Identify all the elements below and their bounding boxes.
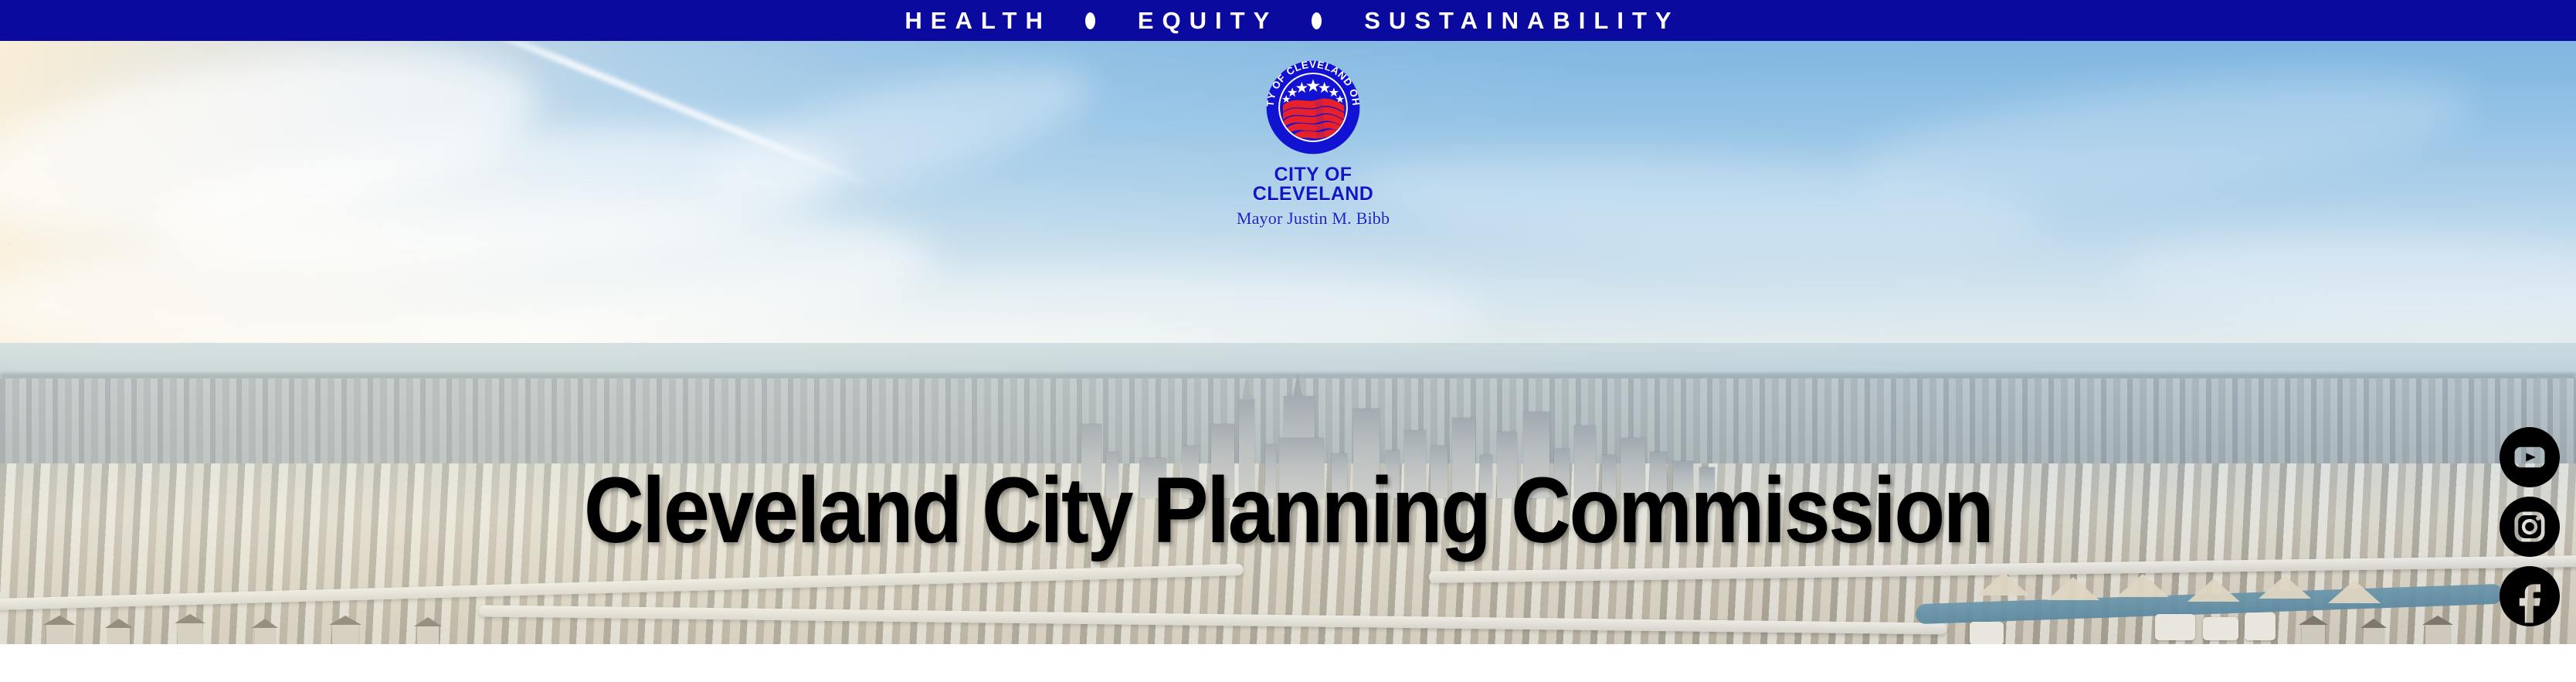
youtube-icon[interactable] — [2500, 427, 2560, 487]
tagline-bullet-icon — [1312, 12, 1322, 29]
city-seal-icon: CITY OF CLEVELAND OHIO — [1266, 60, 1360, 154]
house — [2425, 624, 2450, 644]
house — [178, 623, 202, 644]
logo-title: CITY OF CLEVELAND — [1219, 165, 1407, 204]
gravel-pile — [2116, 574, 2169, 597]
tagline: HEALTH EQUITY SUSTAINABILITY — [896, 8, 1679, 32]
house — [108, 627, 130, 644]
bottom-whitespace — [0, 644, 2576, 682]
house — [46, 624, 73, 644]
gravel-pile — [1977, 572, 2030, 595]
storage-tank — [1970, 622, 2004, 644]
storage-tank — [2203, 617, 2238, 640]
house — [255, 627, 275, 644]
gravel-pile — [2328, 580, 2381, 603]
social-links[interactable] — [2500, 427, 2560, 626]
page-root: HEALTH EQUITY SUSTAINABILITY — [0, 0, 2576, 682]
house — [2364, 627, 2384, 644]
gravel-pile — [2047, 577, 2099, 600]
house — [417, 626, 439, 644]
tagline-word-sustainability: SUSTAINABILITY — [1356, 8, 1679, 32]
storage-tank — [2155, 614, 2195, 640]
logo-subtitle: Mayor Justin M. Bibb — [1219, 210, 1407, 227]
city-of-cleveland-logo[interactable]: CITY OF CLEVELAND OHIO CITY OF — [1219, 60, 1407, 227]
instagram-icon[interactable] — [2500, 497, 2560, 557]
house — [2302, 624, 2325, 644]
tagline-word-health: HEALTH — [896, 8, 1050, 32]
storage-tank — [2245, 612, 2276, 640]
tagline-bullet-icon — [1085, 12, 1095, 29]
page-title: Cleveland City Planning Commission — [0, 463, 2576, 557]
house — [332, 624, 358, 644]
facebook-icon[interactable] — [2500, 566, 2560, 626]
gravel-pile — [2187, 579, 2240, 602]
tagline-word-equity: EQUITY — [1129, 8, 1278, 32]
gravel-pile — [2259, 575, 2311, 599]
tagline-bar: HEALTH EQUITY SUSTAINABILITY — [0, 0, 2576, 41]
